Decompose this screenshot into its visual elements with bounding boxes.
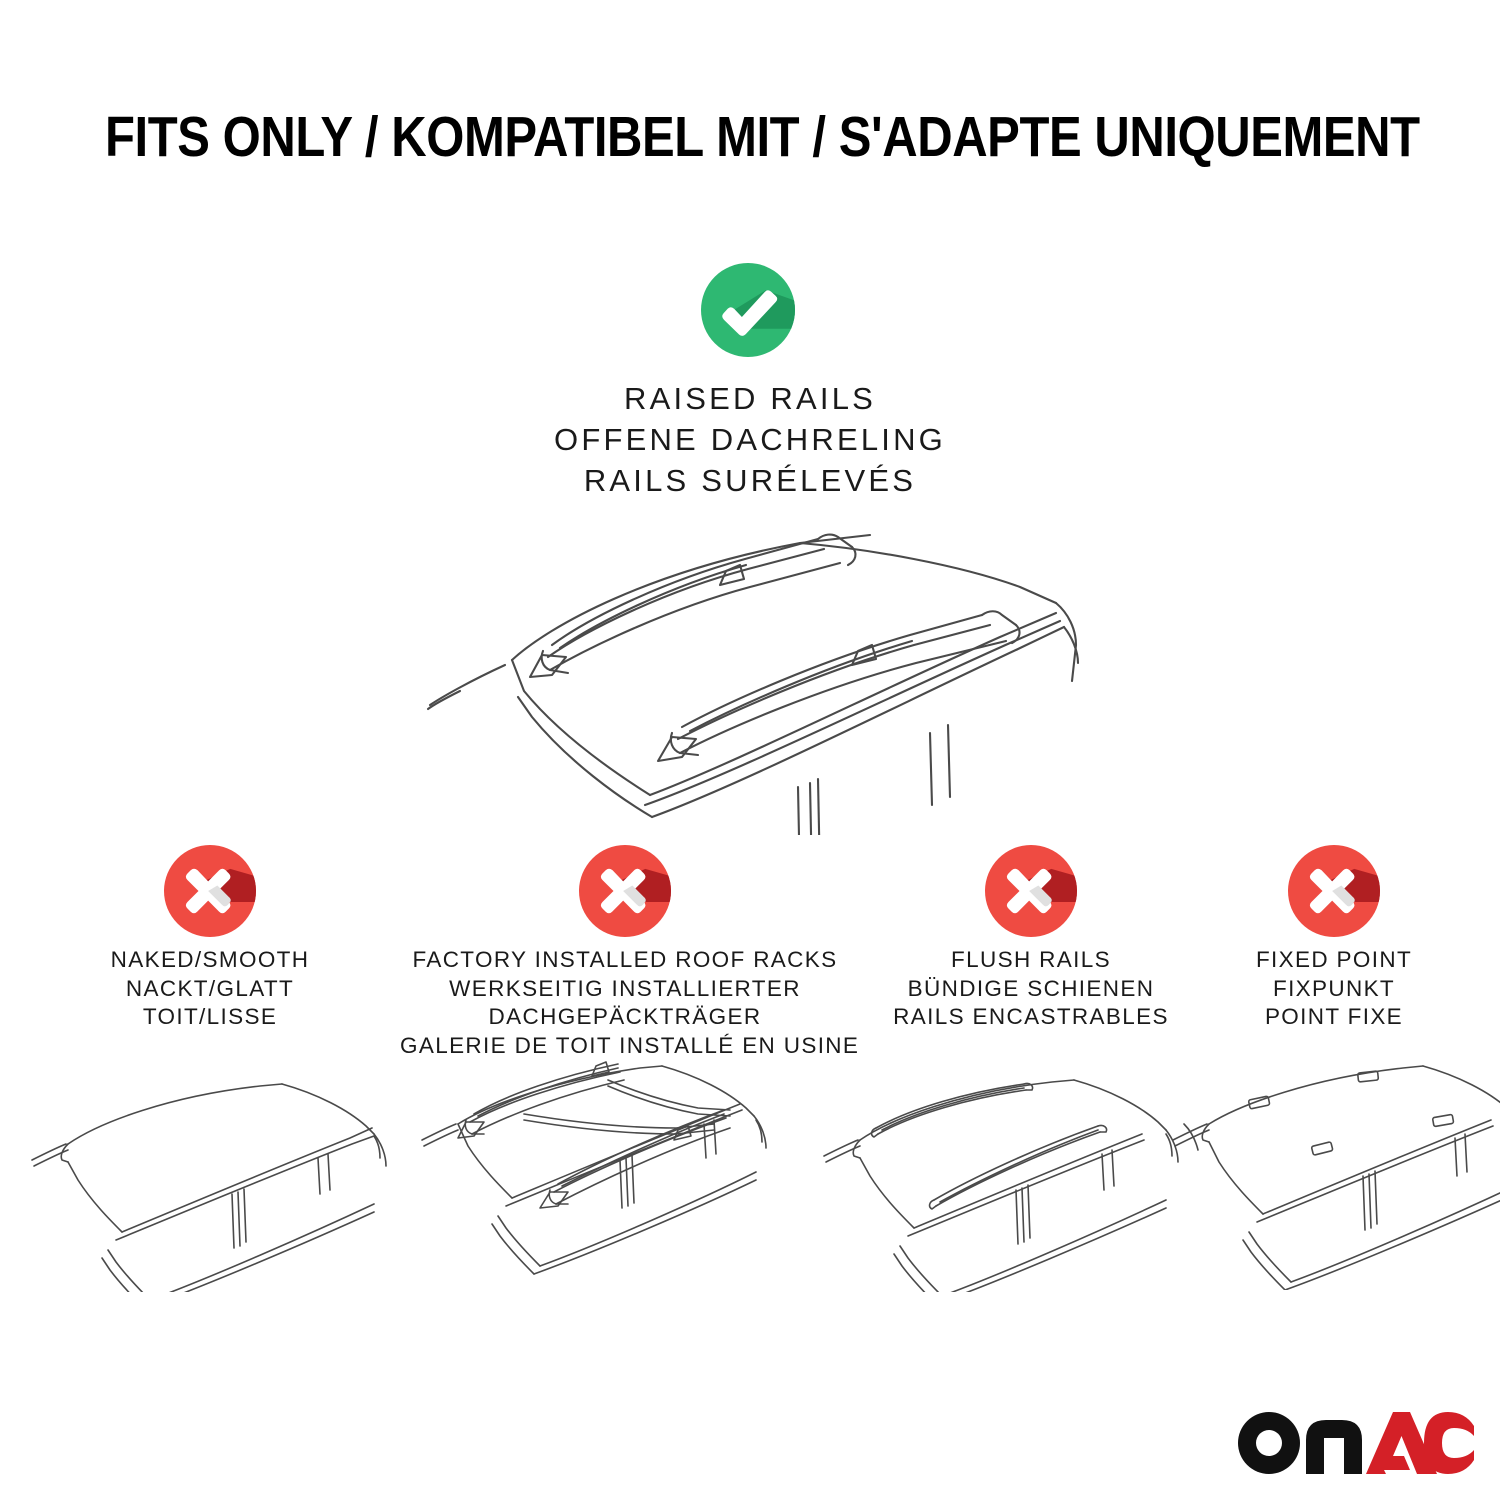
x-circle-shape <box>1288 845 1380 937</box>
compatible-line-en: RAISED RAILS <box>0 378 1500 419</box>
logo-letter-m <box>1306 1420 1362 1474</box>
caption-line-en: FACTORY INSTALLED ROOF RACKS <box>400 946 850 975</box>
x-circle-icon <box>579 845 671 937</box>
caption-line-de-2: DACHGEPÄCKTRÄGER <box>400 1003 850 1032</box>
check-circle-shape <box>701 263 795 357</box>
caption-line-de: NACKT/GLATT <box>0 975 420 1004</box>
compatible-label: RAISED RAILS OFFENE DACHRELING RAILS SUR… <box>0 378 1500 501</box>
x-circle-shape <box>985 845 1077 937</box>
caption-line-de: BÜNDIGE SCHIENEN <box>831 975 1231 1004</box>
incompatible-caption: FLUSH RAILS BÜNDIGE SCHIENEN RAILS ENCAS… <box>831 946 1231 1032</box>
caption-line-de: FIXPUNKT <box>1174 975 1494 1004</box>
x-circle-icon <box>164 845 256 937</box>
compatible-line-de: OFFENE DACHRELING <box>0 419 1500 460</box>
check-circle-icon <box>701 263 795 357</box>
caption-line-fr: TOIT/LISSE <box>0 1003 420 1032</box>
caption-line-en: NAKED/SMOOTH <box>0 946 420 975</box>
car-roof-flush-rails-illustration <box>820 1062 1200 1292</box>
incompatible-caption: FACTORY INSTALLED ROOF RACKS WERKSEITIG … <box>400 946 850 1060</box>
car-roof-factory-installed-roof-racks-illustration <box>412 1058 792 1288</box>
x-circle-shape <box>164 845 256 937</box>
caption-line-en: FLUSH RAILS <box>831 946 1231 975</box>
x-circle-icon <box>985 845 1077 937</box>
compatible-line-fr: RAILS SURÉLEVÉS <box>0 460 1500 501</box>
caption-line-fr: RAILS ENCASTRABLES <box>831 1003 1231 1032</box>
caption-line-fr: GALERIE DE TOIT INSTALLÉ EN USINE <box>400 1032 850 1061</box>
x-circle-shape <box>579 845 671 937</box>
car-roof-fixed-point-illustration <box>1165 1060 1500 1290</box>
page-title: FITS ONLY / KOMPATIBEL MIT / S'ADAPTE UN… <box>105 104 1395 170</box>
omac-logo <box>1238 1412 1474 1474</box>
caption-line-en: FIXED POINT <box>1174 946 1494 975</box>
caption-line-fr: POINT FIXE <box>1174 1003 1494 1032</box>
logo-letter-c <box>1424 1412 1474 1474</box>
x-circle-icon <box>1288 845 1380 937</box>
car-roof-naked-smooth-illustration <box>30 1062 410 1292</box>
incompatible-caption: NAKED/SMOOTH NACKT/GLATT TOIT/LISSE <box>0 946 420 1032</box>
car-roof-with-raised-rails-illustration <box>400 505 1100 835</box>
incompatible-caption: FIXED POINT FIXPUNKT POINT FIXE <box>1174 946 1494 1032</box>
caption-line-de-1: WERKSEITIG INSTALLIERTER <box>400 975 850 1004</box>
